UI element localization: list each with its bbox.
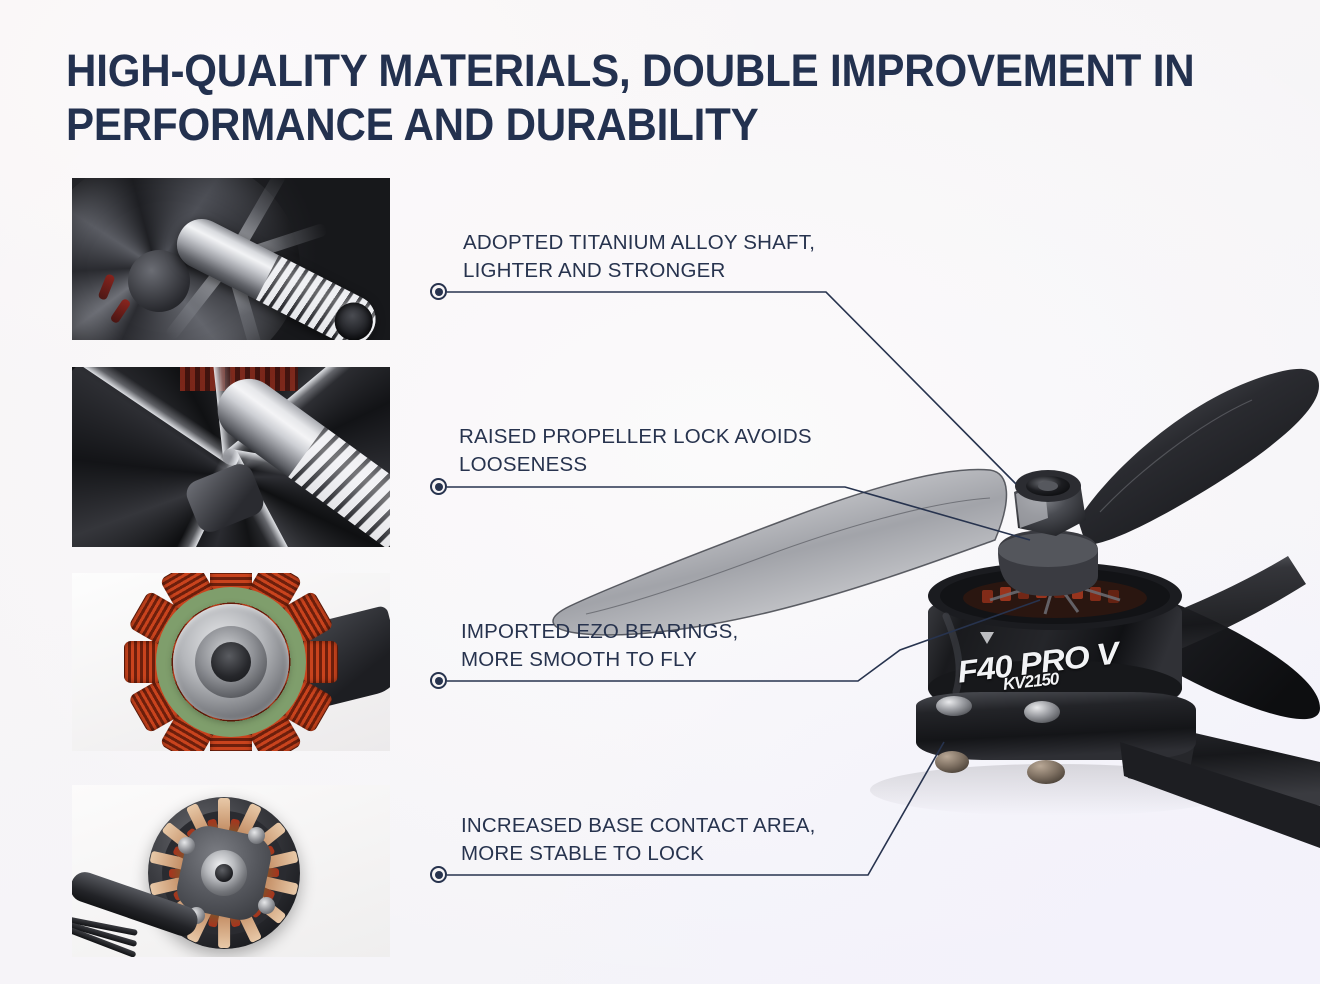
callout-label-titanium-shaft: ADOPTED TITANIUM ALLOY SHAFT, LIGHTER AN… [463,229,815,285]
thumbnail-raised-propeller-lock[interactable] [72,367,390,547]
thumb4-screw [178,837,195,854]
thumb4-screw [258,897,275,914]
thumbnail-ezo-bearing-stator[interactable] [72,573,390,751]
thumb4-center-bore [215,864,233,882]
propeller-hub-top [998,533,1098,567]
shaft-end [1038,481,1058,491]
callout-label-base-contact: INCREASED BASE CONTACT AREA, MORE STABLE… [461,812,816,868]
thumb3-bearing-bore [211,642,251,682]
thumbnail-titanium-alloy-shaft[interactable] [72,178,390,340]
callout-dot-propeller-lock[interactable] [430,478,447,495]
standoff-left [935,751,969,773]
thumb4-screw [248,827,265,844]
infographic-canvas: HIGH-QUALITY MATERIALS, DOUBLE IMPROVEME… [0,0,1320,984]
callout-label-propeller-lock: RAISED PROPELLER LOCK AVOIDS LOOSENESS [459,423,812,479]
callout-dot-titanium-shaft[interactable] [430,283,447,300]
callout-label-ezo-bearings: IMPORTED EZO BEARINGS, MORE SMOOTH TO FL… [461,618,738,674]
standoff-center [1027,760,1065,784]
callout-dot-ezo-bearings[interactable] [430,672,447,689]
mount-screw-center [1024,701,1060,723]
mount-screw-left [936,696,972,716]
callout-dot-base-contact[interactable] [430,866,447,883]
thumbnail-motor-base-contact[interactable] [72,785,390,957]
propeller-blade-upper-right [1078,369,1319,545]
